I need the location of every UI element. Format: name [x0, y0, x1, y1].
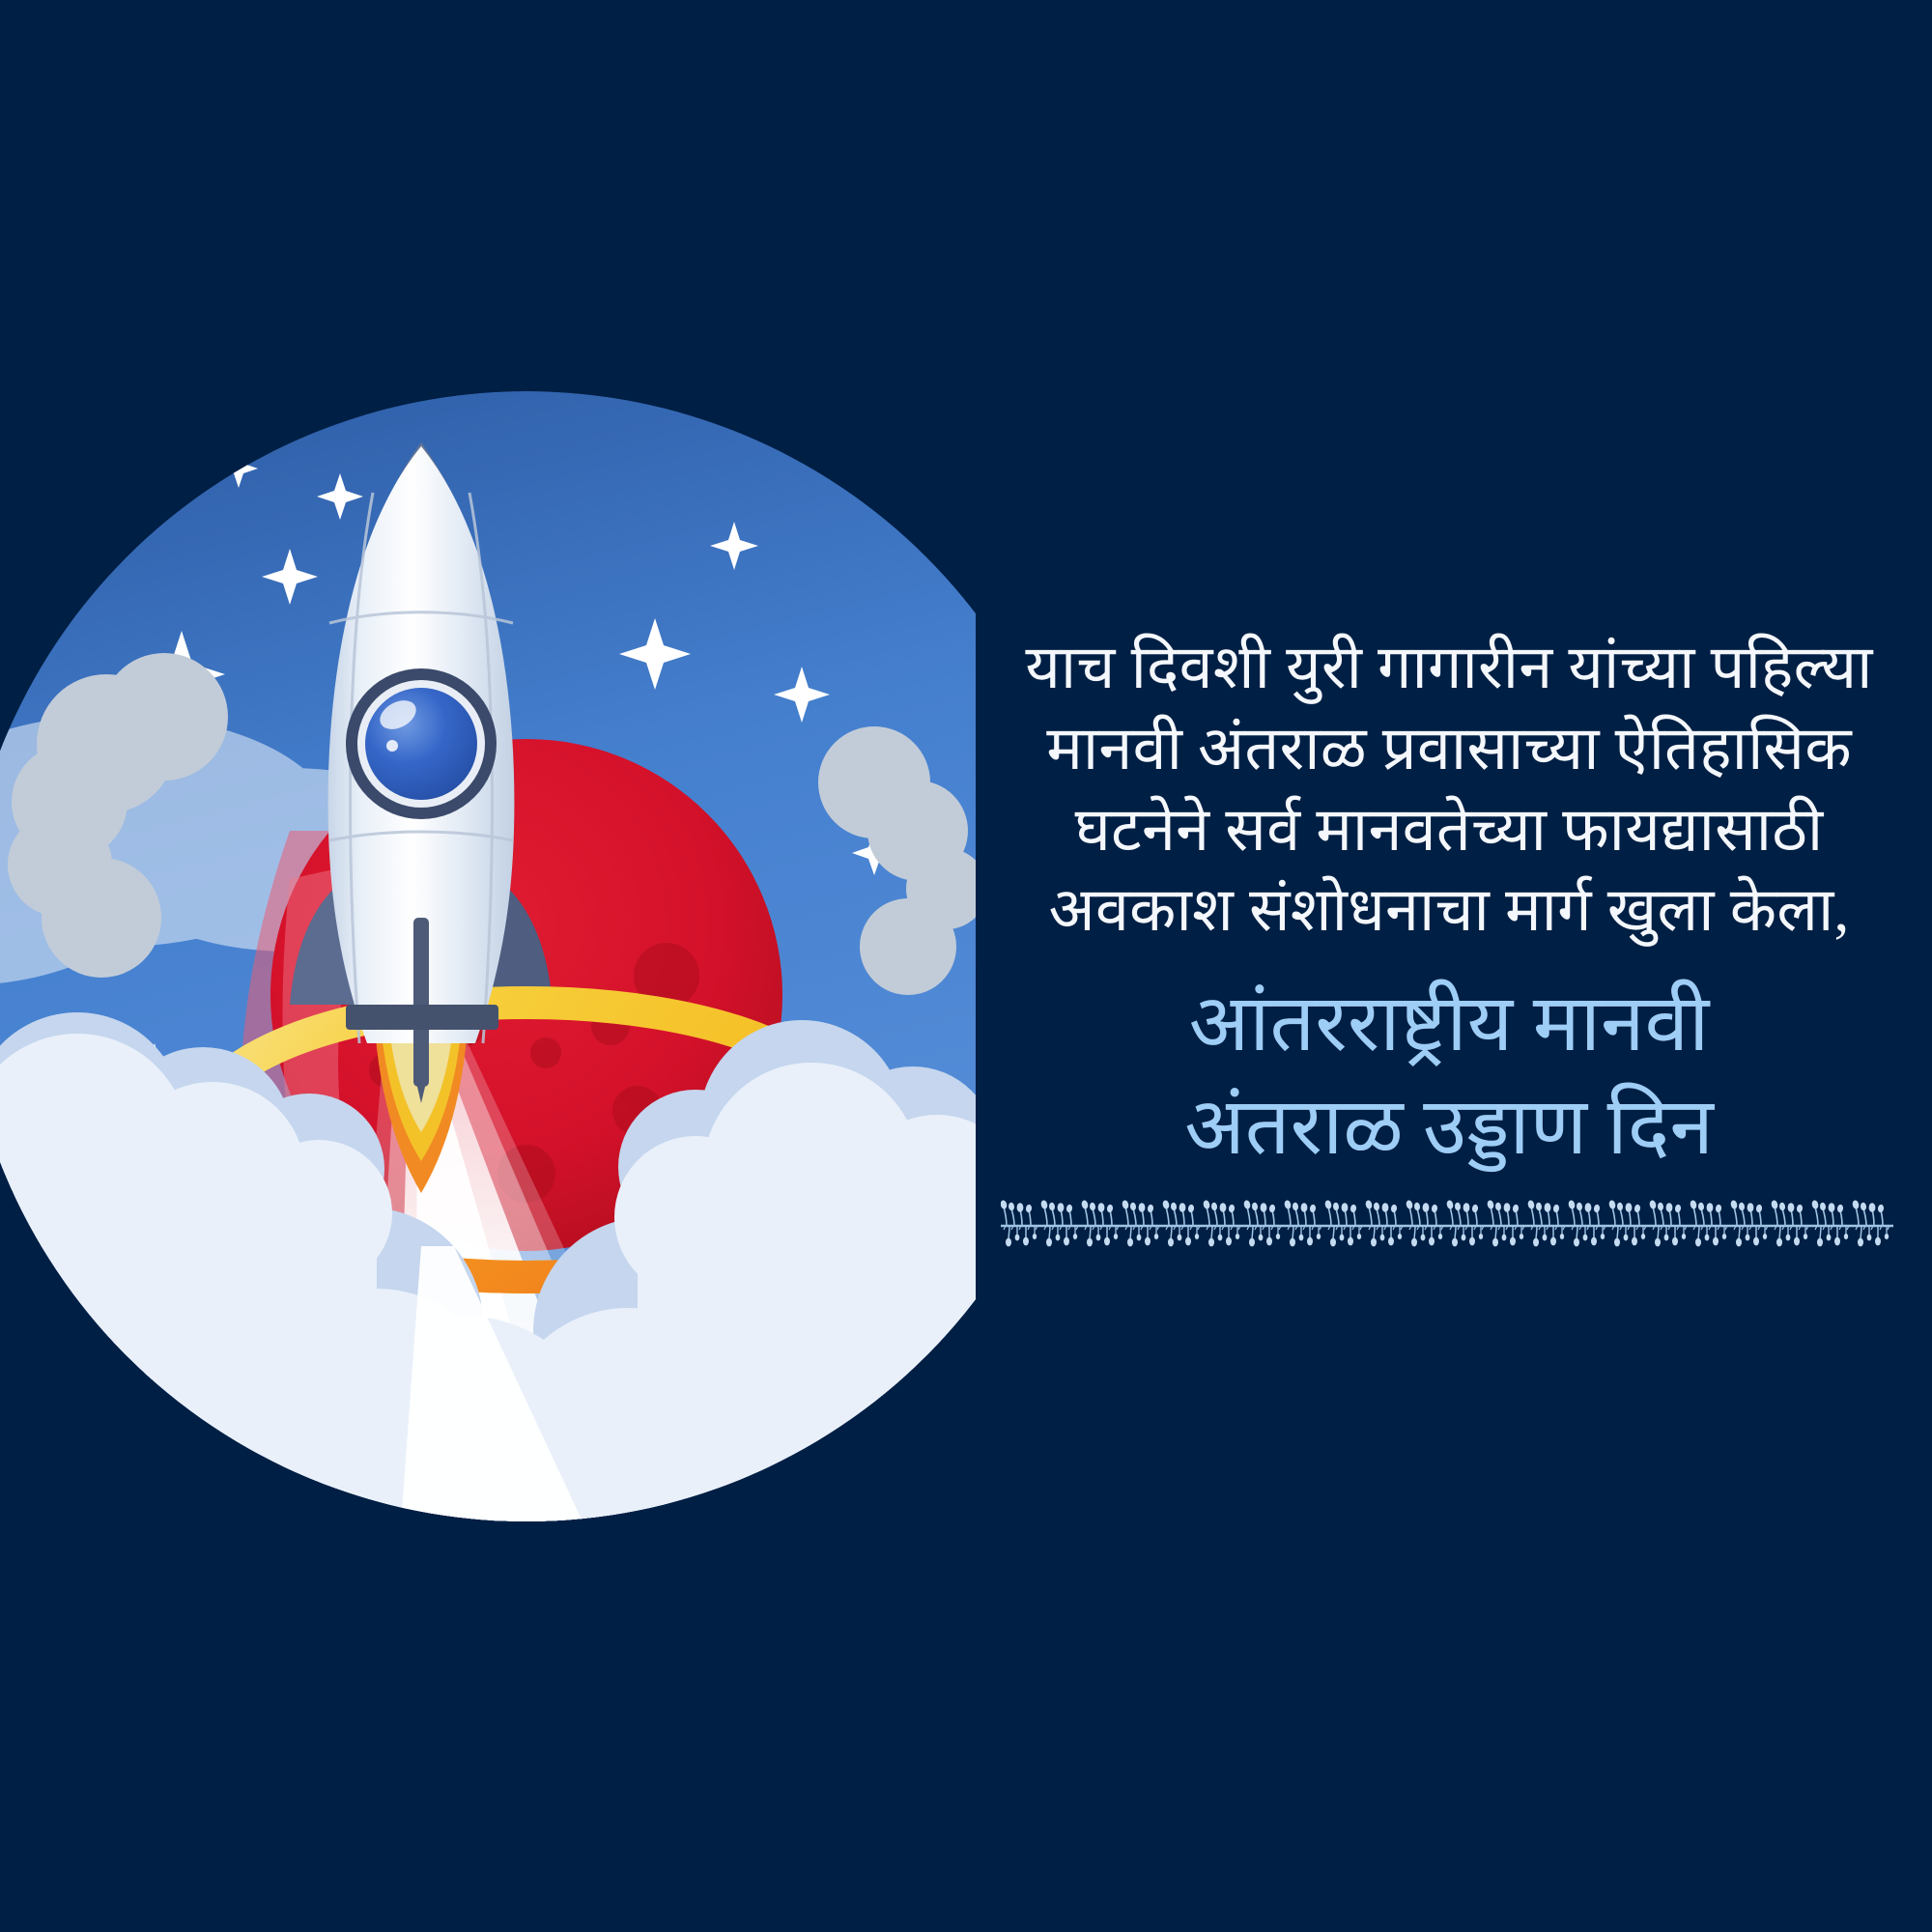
rocket-tail-blade [413, 918, 429, 1087]
body-line-3: घटनेने सर्व मानवतेच्या फायद्यासाठी [976, 790, 1922, 871]
headline-line-1: आंतरराष्ट्रीय मानवी [972, 973, 1926, 1076]
floral-vine-divider [1001, 1200, 1897, 1252]
rocket-window [346, 668, 497, 819]
headline-line-2: अंतराळ उड्डाण दिन [972, 1076, 1926, 1179]
headline: आंतरराष्ट्रीय मानवी अंतराळ उड्डाण दिन [966, 973, 1932, 1179]
rocket-launch-illustration [0, 377, 976, 1565]
body-line-4: अवकाश संशोधनाचा मार्ग खुला केला, [976, 870, 1922, 952]
vine-repeat [1001, 1200, 1893, 1246]
rocket-engine-band [346, 1005, 498, 1030]
body-paragraph: याच दिवशी युरी गागारीन यांच्या पहिल्या म… [966, 628, 1932, 952]
poster-canvas: याच दिवशी युरी गागारीन यांच्या पहिल्या म… [0, 0, 1932, 1932]
body-line-1: याच दिवशी युरी गागारीन यांच्या पहिल्या [976, 628, 1922, 709]
body-line-2: मानवी अंतराळ प्रवासाच्या ऐतिहासिक [976, 709, 1922, 790]
text-column: याच दिवशी युरी गागारीन यांच्या पहिल्या म… [966, 628, 1932, 1252]
circular-scene [0, 391, 976, 1565]
